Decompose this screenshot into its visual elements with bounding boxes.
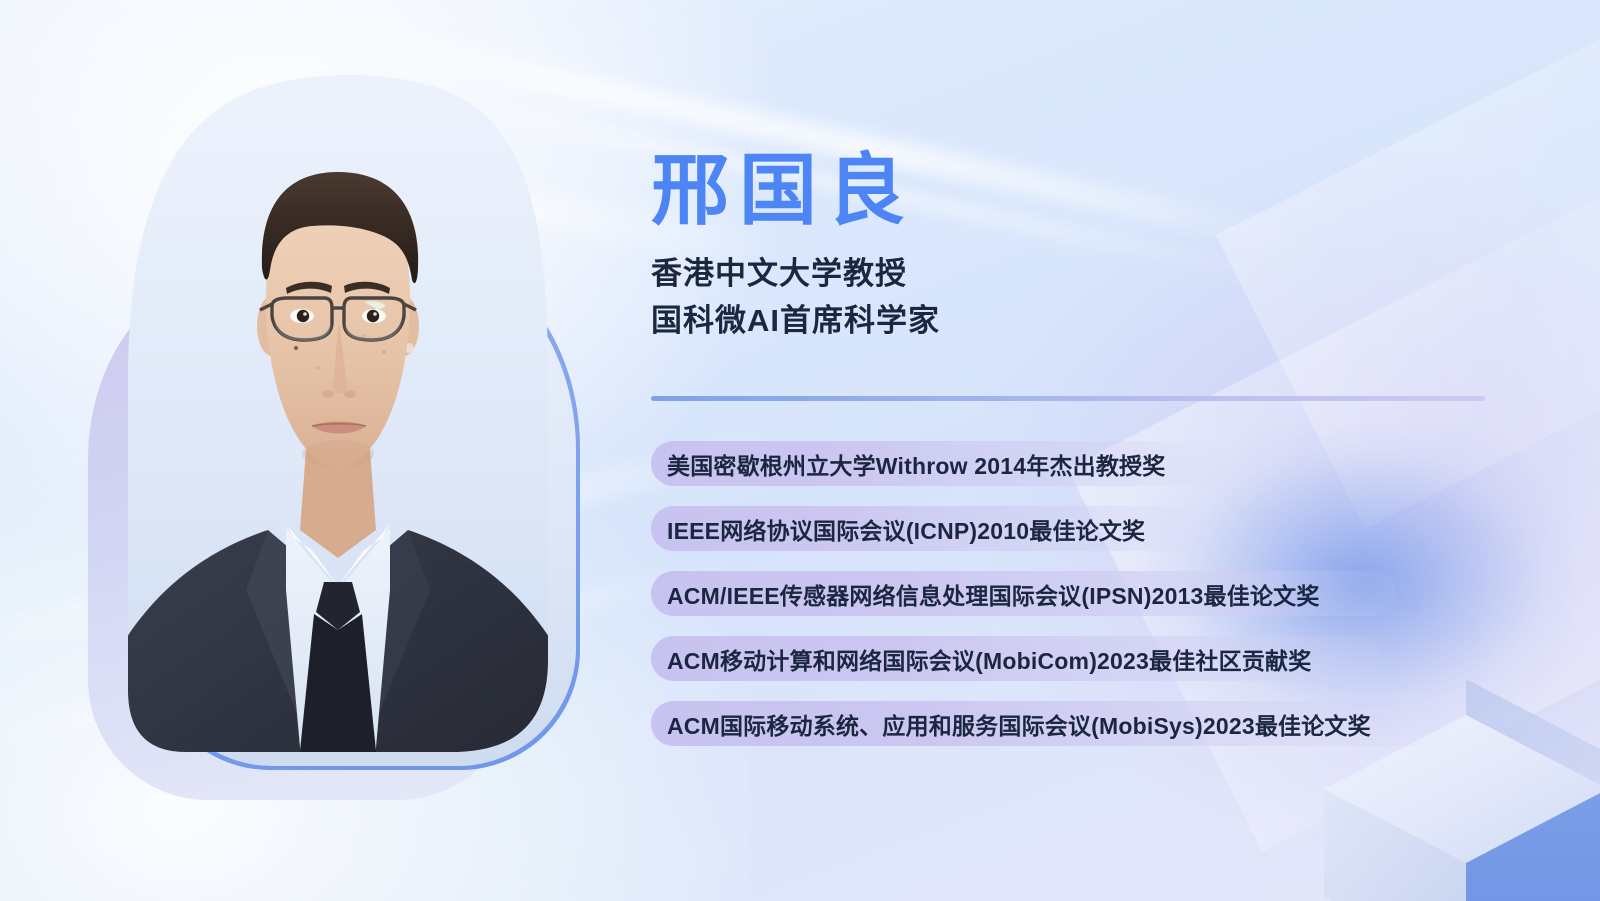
speaker-name: 邢国良 [651, 150, 1551, 232]
speaker-profile-poster: 邢国良 香港中文大学教授 国科微AI首席科学家 美国密歇根州立大学Withrow… [0, 0, 1600, 901]
award-label: IEEE网络协议国际会议(ICNP)2010最佳论文奖 [667, 512, 1145, 546]
portrait-photo-clip [154, 252, 576, 766]
award-label: ACM/IEEE传感器网络信息处理国际会议(IPSN)2013最佳论文奖 [667, 577, 1320, 611]
award-label: ACM移动计算和网络国际会议(MobiCom)2023最佳社区贡献奖 [667, 642, 1311, 676]
award-item: 美国密歇根州立大学Withrow 2014年杰出教授奖 [651, 441, 1226, 486]
award-item: ACM/IEEE传感器网络信息处理国际会议(IPSN)2013最佳论文奖 [651, 571, 1396, 616]
portrait-block [88, 248, 588, 808]
award-label: ACM国际移动系统、应用和服务国际会议(MobiSys)2023最佳论文奖 [667, 707, 1371, 741]
speaker-title-line-1: 香港中文大学教授 [651, 250, 1551, 297]
awards-list: 美国密歇根州立大学Withrow 2014年杰出教授奖 IEEE网络协议国际会议… [651, 441, 1551, 766]
speaker-title-line-2: 国科微AI首席科学家 [651, 297, 1551, 344]
award-item: ACM移动计算和网络国际会议(MobiCom)2023最佳社区贡献奖 [651, 636, 1381, 681]
award-item: IEEE网络协议国际会议(ICNP)2010最佳论文奖 [651, 506, 1211, 551]
award-label: 美国密歇根州立大学Withrow 2014年杰出教授奖 [667, 447, 1165, 481]
award-item: ACM国际移动系统、应用和服务国际会议(MobiSys)2023最佳论文奖 [651, 701, 1448, 746]
section-divider [651, 396, 1485, 401]
speaker-info: 邢国良 香港中文大学教授 国科微AI首席科学家 [651, 150, 1551, 344]
